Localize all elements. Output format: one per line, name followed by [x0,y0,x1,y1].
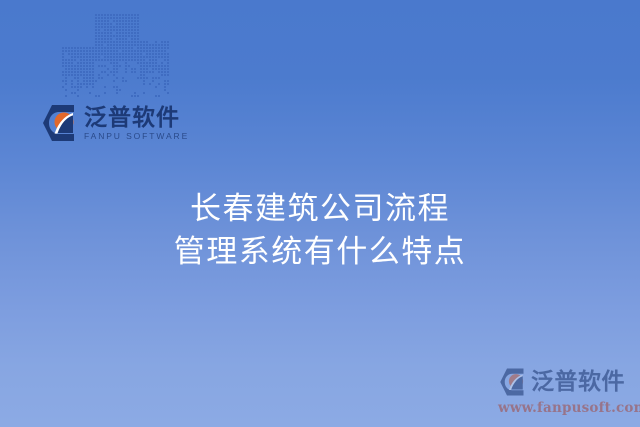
watermark-url: www.fanpusoft.com [498,400,640,416]
poster-canvas: 泛普软件 FANPU SOFTWARE 长春建筑公司流程 管理系统有什么特点 泛… [0,0,640,427]
fanpu-logo-mark-icon [40,103,80,143]
brand-name-cn: 泛普软件 [84,106,189,130]
brand-wordmark: 泛普软件 FANPU SOFTWARE [84,106,189,141]
page-title-line-1: 长春建筑公司流程 [0,188,640,231]
watermark: 泛普软件 www.fanpusoft.com [498,366,640,418]
brand-logo: 泛普软件 FANPU SOFTWARE [40,100,180,146]
pixel-skyline-graphic [62,8,174,100]
page-title-line-2: 管理系统有什么特点 [0,231,640,274]
page-title: 长春建筑公司流程 管理系统有什么特点 [0,188,640,274]
watermark-logo-mark-icon [498,367,528,397]
watermark-name-cn: 泛普软件 [531,370,625,395]
brand-name-en: FANPU SOFTWARE [84,131,189,141]
watermark-logo-row: 泛普软件 [498,366,640,398]
